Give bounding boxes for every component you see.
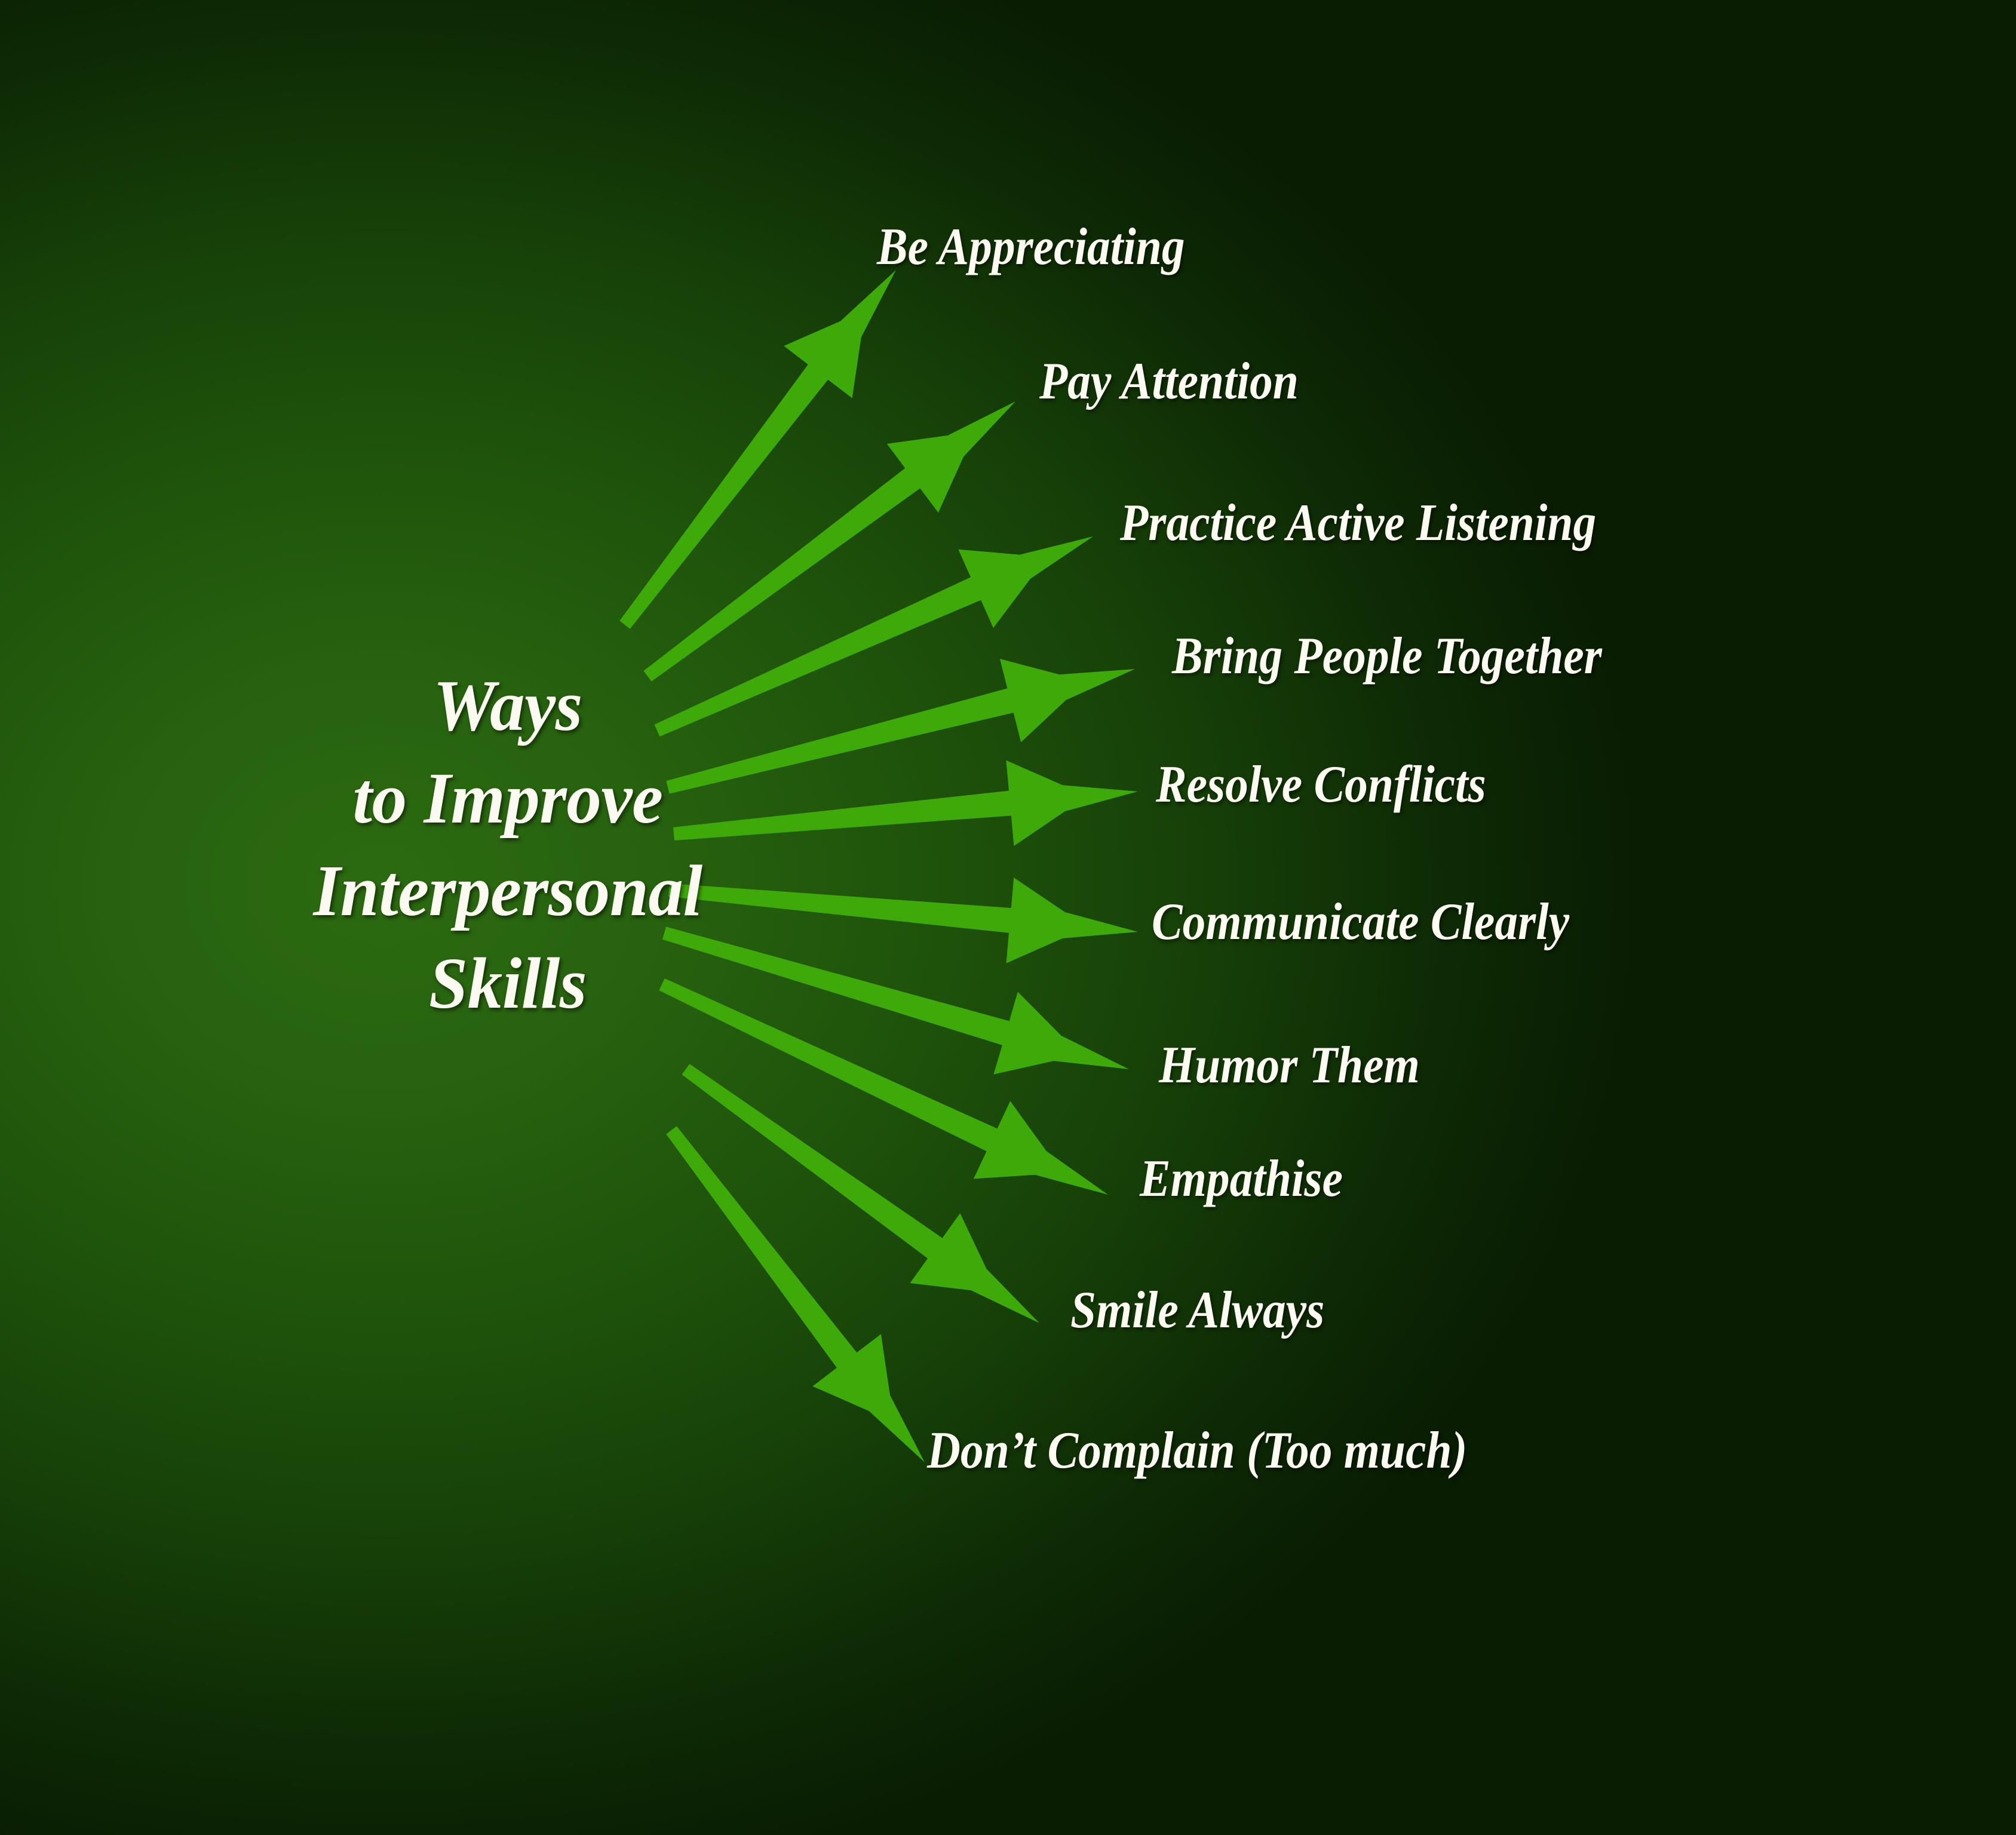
arrow-dont-complain bbox=[666, 1126, 925, 1462]
arrow-smile-always bbox=[682, 1064, 1039, 1323]
branch-label-humor-them: Humor Them bbox=[1159, 1039, 1420, 1092]
diagram-canvas: Ways to Improve Interpersonal Skills Be … bbox=[0, 0, 2016, 1835]
branch-label-communicate-clearly: Communicate Clearly bbox=[1152, 896, 1569, 949]
branch-label-pay-attention: Pay Attention bbox=[1039, 355, 1299, 408]
branch-label-resolve-conflicts: Resolve Conflicts bbox=[1156, 759, 1486, 811]
center-title: Ways to Improve Interpersonal Skills bbox=[227, 660, 789, 1030]
branch-label-dont-complain: Don’t Complain (Too much) bbox=[927, 1425, 1467, 1477]
branch-label-be-appreciating: Be Appreciating bbox=[877, 221, 1185, 274]
branch-label-smile-always: Smile Always bbox=[1070, 1284, 1324, 1337]
branch-label-empathise: Empathise bbox=[1140, 1153, 1343, 1205]
branch-label-practice-active-listening: Practice Active Listening bbox=[1120, 497, 1596, 550]
arrow-pay-attention bbox=[643, 401, 1015, 682]
arrow-be-appreciating bbox=[619, 270, 896, 629]
branch-label-bring-people-together: Bring People Together bbox=[1172, 630, 1602, 683]
